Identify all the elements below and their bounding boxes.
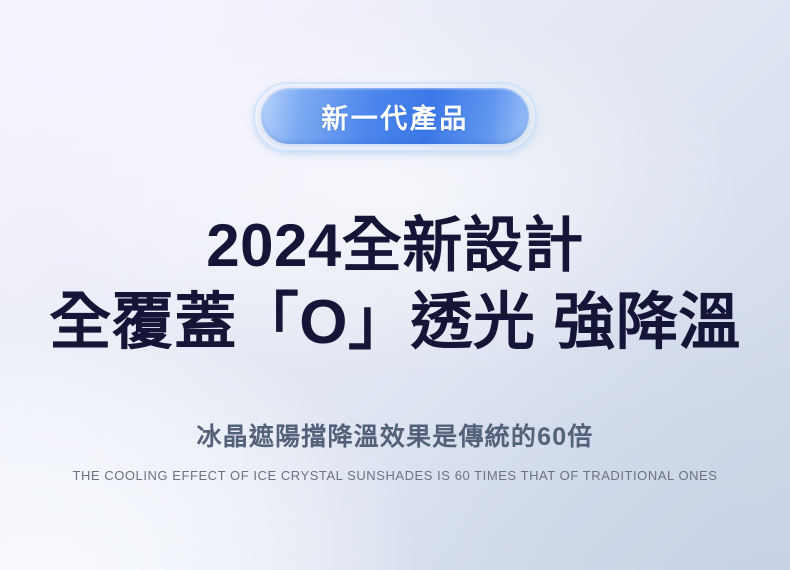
product-hero-banner: 新一代產品 2024全新設計 全覆蓋「O」透光 強降溫 冰晶遮陽擋降溫效果是傳統… <box>0 0 790 570</box>
badge-label: 新一代產品 <box>321 97 469 136</box>
headline-line-2: 全覆蓋「O」透光 強降溫 <box>49 288 740 359</box>
subtitle-english: THE COOLING EFFECT OF ICE CRYSTAL SUNSHA… <box>72 468 717 483</box>
subtitle-chinese: 冰晶遮陽擋降溫效果是傳統的60倍 <box>196 417 593 453</box>
badge-pill[interactable]: 新一代產品 <box>261 88 529 144</box>
headline-line-1: 2024全新設計 <box>49 212 740 280</box>
new-generation-badge[interactable]: 新一代產品 <box>261 88 529 144</box>
page-title: 2024全新設計 全覆蓋「O」透光 強降溫 <box>49 212 740 359</box>
